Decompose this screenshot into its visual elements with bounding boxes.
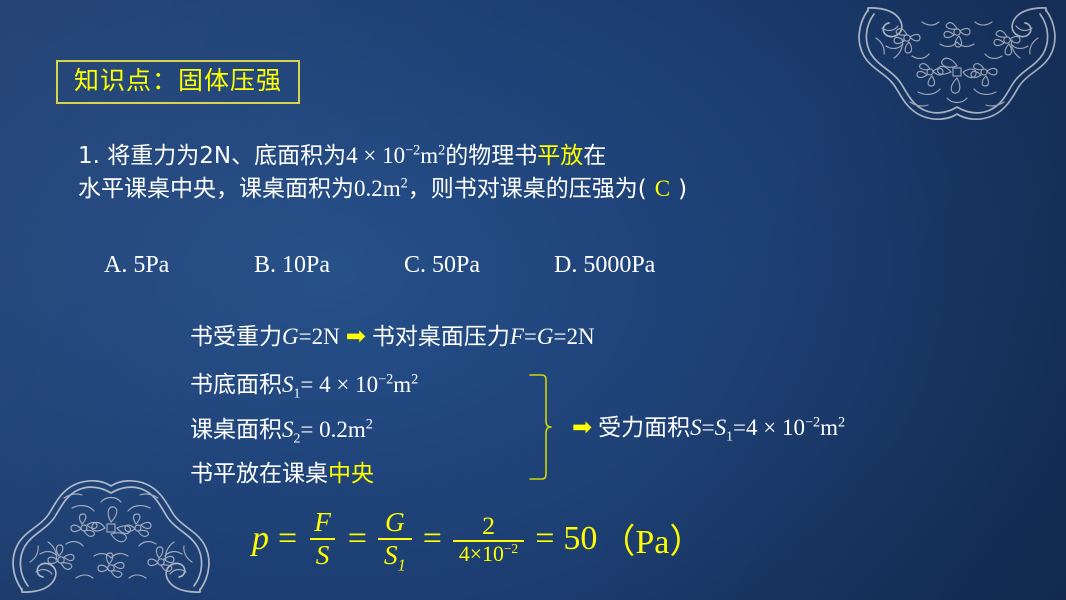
fraction-g-over-s1: G S1	[378, 508, 412, 569]
group-line-placement: 书平放在课桌中央	[190, 452, 418, 497]
reasoning-right-value: =2N	[554, 324, 595, 349]
reasoning-right-label: 书对桌面压力	[372, 324, 510, 350]
variable-s1-ref-subscript: 1	[726, 429, 733, 444]
fraction-2-denominator-subscript: 1	[398, 555, 406, 574]
equals-sign-1: =	[524, 324, 537, 349]
question-text: 1. 将重力为2N、底面积为4 × 10−2m2的物理书平放在 水平课桌中央，课…	[78, 140, 978, 205]
reasoning-group: 书底面积S1= 4 × 10−2m2 课桌面积S2= 0.2m2 书平放在课桌中…	[190, 362, 418, 497]
group-line1-unit-exponent: 2	[411, 371, 418, 387]
conclusion-label: 受力面积	[598, 415, 690, 441]
conclusion-unit-exponent: 2	[838, 414, 845, 430]
reasoning-conclusion: ➡受力面积S=S1=4 × 10−2m2	[566, 408, 845, 442]
question-line2-value: 0.2m	[354, 176, 401, 201]
question-line-2: 水平课桌中央，课桌面积为0.2m2，则书对课桌的压强为(C)	[78, 173, 978, 206]
question-line1-highlight: 平放	[537, 143, 583, 169]
conclusion-value: =4 × 10	[733, 415, 805, 440]
formula-unit: （Pa）	[597, 514, 703, 563]
group-line3-highlight: 中央	[328, 461, 374, 487]
fraction-3-denominator-base: 4×10	[459, 542, 504, 566]
group-line2-label: 课桌面积	[190, 417, 282, 443]
question-line1-value-unit: m	[420, 143, 438, 168]
page-title: 知识点：固体压强	[74, 67, 282, 94]
variable-g-2: G	[537, 324, 554, 349]
conclusion-unit: m	[820, 415, 838, 440]
option-a[interactable]: A. 5Pa	[104, 252, 254, 279]
variable-f: F	[510, 324, 524, 349]
variable-s1: S	[282, 372, 294, 397]
formula-equals-1: =	[269, 520, 306, 558]
final-formula: p = F S = G S1 = 2 4×10−2 = 50 （Pa）	[252, 508, 703, 569]
group-line-desk-area: 课桌面积S2= 0.2m2	[190, 407, 418, 452]
variable-g: G	[282, 324, 299, 349]
reasoning-left-label: 书受重力	[190, 324, 282, 350]
group-line2-value: = 0.2m	[300, 417, 365, 442]
question-line1-value-base: 4 × 10	[346, 143, 405, 168]
topic-title-box: 知识点：固体压强	[56, 60, 300, 104]
fraction-2-denominator-var: S	[384, 540, 398, 570]
grouping-brace	[528, 373, 552, 481]
reasoning-step-1: 书受重力G=2N➡书对桌面压力F=G=2N	[190, 314, 595, 359]
floral-ornament-icon	[6, 476, 216, 600]
group-line2-exponent: 2	[366, 416, 373, 432]
fraction-3-denominator: 4×10−2	[453, 540, 524, 566]
equals-sign-2: =	[702, 415, 715, 440]
arrow-right-icon: ➡	[566, 413, 598, 441]
variable-s2: S	[282, 417, 294, 442]
reasoning-line-weight: 书受重力G=2N➡书对桌面压力F=G=2N	[190, 314, 595, 359]
formula-p: p	[252, 520, 269, 558]
question-line-1: 1. 将重力为2N、底面积为4 × 10−2m2的物理书平放在	[78, 140, 978, 173]
fraction-3-numerator: 2	[476, 512, 501, 540]
answer-letter: C	[647, 176, 678, 201]
question-line2-part-b: ，则书对课桌的压强为(	[408, 176, 647, 202]
group-line3-label: 书平放在课桌	[190, 461, 328, 487]
fraction-3-denominator-exponent: −2	[504, 540, 518, 555]
group-line1-value: = 4 × 10	[300, 372, 378, 397]
conclusion-exponent: −2	[805, 414, 820, 430]
question-line1-part-a: 1. 将重力为2N、底面积为	[78, 143, 346, 169]
reasoning-left-value: =2N	[299, 324, 340, 349]
question-line2-value-exponent: 2	[401, 175, 408, 191]
option-d[interactable]: D. 5000Pa	[554, 252, 655, 279]
question-line1-part-b: 的物理书	[445, 143, 537, 169]
answer-options: A. 5Pa B. 10Pa C. 50Pa D. 5000Pa	[104, 252, 655, 279]
option-b[interactable]: B. 10Pa	[254, 252, 404, 279]
variable-s: S	[690, 415, 702, 440]
arrow-right-icon: ➡	[340, 322, 372, 350]
fraction-2-numerator: G	[379, 508, 411, 538]
fraction-1-numerator: F	[308, 508, 337, 538]
group-line-book-area: 书底面积S1= 4 × 10−2m2	[190, 362, 418, 407]
formula-equals-2: =	[339, 520, 376, 558]
variable-s1-ref: S	[715, 415, 727, 440]
option-c[interactable]: C. 50Pa	[404, 252, 554, 279]
question-line2-part-a: 水平课桌中央，课桌面积为	[78, 176, 354, 202]
question-line1-part-c: 在	[583, 143, 606, 169]
fraction-1-denominator: S	[310, 538, 336, 570]
formula-result: 50	[563, 520, 597, 558]
slide-canvas: 知识点：固体压强 1. 将重力为2N、底面积为4 × 10−2m2的物理书平放在…	[0, 0, 1066, 600]
group-line1-label: 书底面积	[190, 372, 282, 398]
question-line2-part-c: )	[678, 176, 687, 202]
fraction-2-over-4e-2: 2 4×10−2	[453, 512, 524, 566]
fraction-2-denominator: S1	[378, 538, 412, 570]
formula-equals-3: =	[414, 520, 451, 558]
formula-equals-4: =	[526, 520, 563, 558]
floral-ornament-icon	[852, 0, 1062, 124]
group-line1-unit: m	[393, 372, 411, 397]
group-line1-exponent: −2	[378, 371, 393, 387]
fraction-f-over-s: F S	[308, 508, 337, 569]
question-line1-value-exponent: −2	[405, 142, 420, 158]
